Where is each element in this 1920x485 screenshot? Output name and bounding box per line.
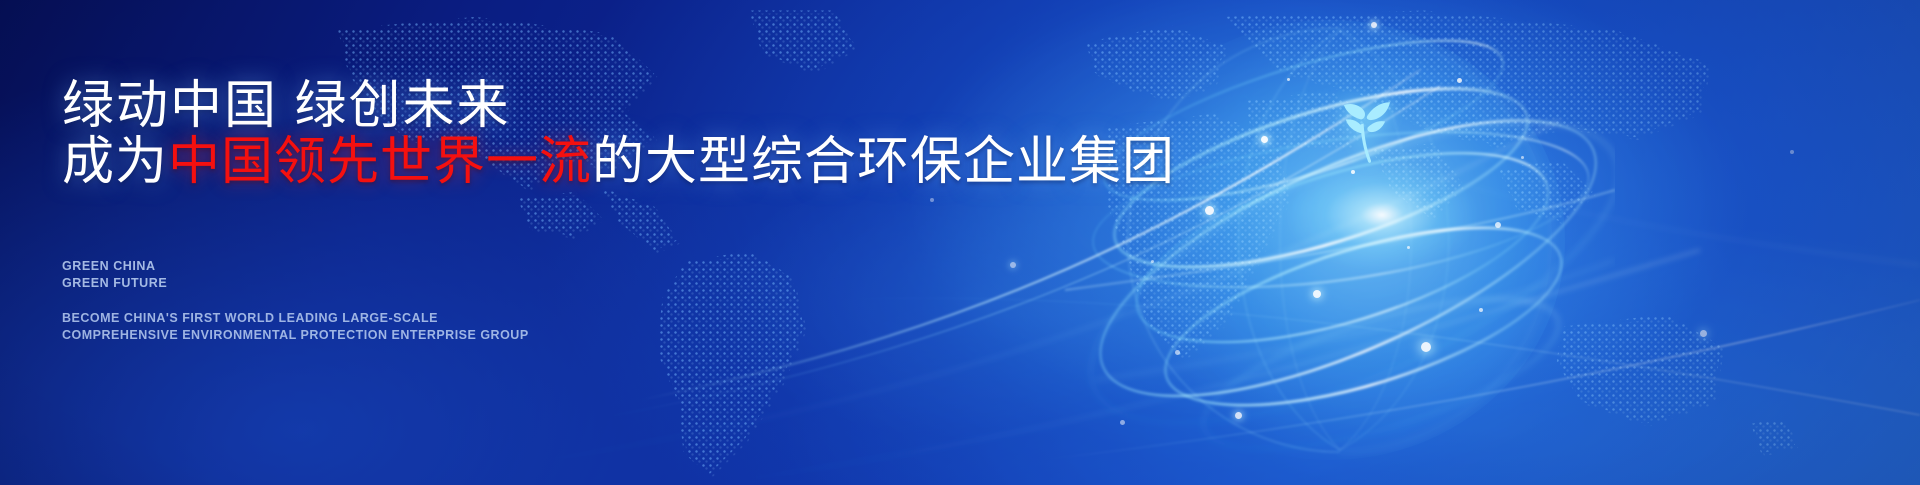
particle-dot <box>1479 308 1483 312</box>
subtitle-english-long: BECOME CHINA'S FIRST WORLD LEADING LARGE… <box>62 310 529 343</box>
particle-dot <box>1457 78 1462 83</box>
wireframe-globe <box>1055 0 1615 485</box>
headline-line-2: 成为中国领先世界一流的大型综合环保企业集团 <box>62 134 1175 191</box>
sprout-seedling-icon <box>1317 85 1413 181</box>
headline-line-2-highlight: 中国领先世界一流 <box>168 133 592 191</box>
globe-glow <box>1095 20 1565 460</box>
particle-dot <box>1261 136 1268 143</box>
headline-line-1: 绿动中国 绿创未来 <box>62 78 510 135</box>
headline-line-2-suffix: 的大型综合环保企业集团 <box>592 133 1175 191</box>
headline-line-2-prefix: 成为 <box>62 133 168 191</box>
subtitle-english-short: GREEN CHINA GREEN FUTURE <box>62 258 167 291</box>
particle-dot <box>1151 260 1154 263</box>
particle-dot <box>1700 330 1707 337</box>
banner-copy: 绿动中国 绿创未来 成为中国领先世界一流的大型综合环保企业集团 GREEN CH… <box>62 0 1062 485</box>
particle-dot <box>1313 290 1321 298</box>
particle-dot <box>1521 156 1524 159</box>
globe-wireframe-lines <box>1055 0 1615 485</box>
globe-core-flare <box>1287 160 1477 270</box>
particle-dot <box>1407 246 1410 249</box>
hero-banner: 绿动中国 绿创未来 成为中国领先世界一流的大型综合环保企业集团 GREEN CH… <box>0 0 1920 485</box>
particle-dot <box>1351 170 1355 174</box>
particle-dot <box>1120 420 1125 425</box>
particle-dot <box>1235 412 1242 419</box>
particle-dot <box>1421 342 1431 352</box>
particle-dot <box>1371 22 1377 28</box>
particle-dot <box>1495 222 1501 228</box>
particle-dot <box>1175 350 1180 355</box>
particle-dot <box>1790 150 1794 154</box>
particle-dot <box>1287 78 1290 81</box>
particle-dot <box>1205 206 1214 215</box>
